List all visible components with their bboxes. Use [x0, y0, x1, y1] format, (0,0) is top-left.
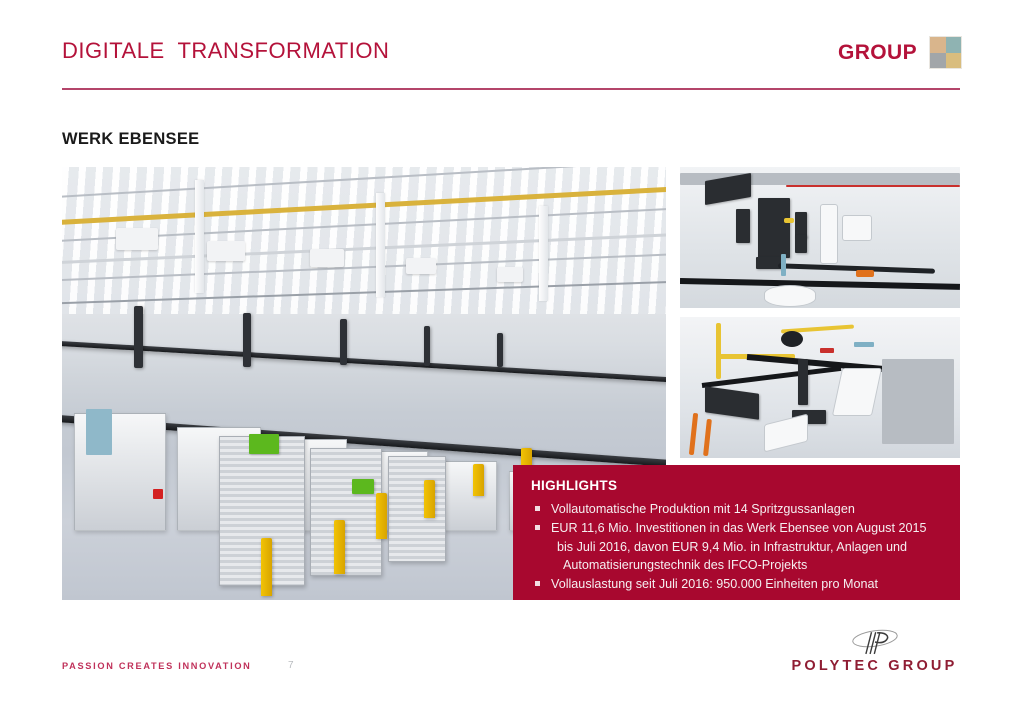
- logo-tile-bottom-left: [930, 53, 946, 69]
- teal-marker: [854, 342, 874, 347]
- slide: DIGITALE TRANSFORMATION GROUP WERK EBENS…: [0, 0, 1024, 709]
- logo-tile-bottom-right: [946, 53, 962, 69]
- robot-column: [798, 359, 808, 405]
- red-marker: [820, 348, 834, 353]
- machine-guard: [388, 456, 446, 562]
- blue-hose: [781, 254, 786, 276]
- orange-cable: [703, 418, 712, 455]
- red-indicator: [153, 489, 163, 499]
- highlight-text: Vollauslastung seit Juli 2016: 950.000 E…: [551, 577, 878, 591]
- safety-bollard: [334, 520, 345, 574]
- highlight-text: EUR 11,6 Mio. Investitionen in das Werk …: [551, 521, 926, 535]
- logo-tile-grid: [929, 36, 962, 69]
- footer-tagline: PASSION CREATES INNOVATION: [62, 661, 252, 671]
- robot-arm: [340, 319, 347, 365]
- highlight-item: Vollautomatische Produktion mit 14 Sprit…: [531, 500, 944, 519]
- green-control-box: [352, 479, 374, 494]
- side-panel: [882, 359, 955, 444]
- control-panel: [758, 198, 790, 258]
- bullet-square-icon: [535, 525, 540, 530]
- orange-marker: [856, 270, 874, 277]
- highlight-continuation: bis Juli 2016, davon EUR 9,4 Mio. in Inf…: [531, 538, 944, 557]
- robot-arm: [424, 326, 430, 366]
- section-title: WERK EBENSEE: [62, 130, 199, 149]
- highlights-heading: HIGHLIGHTS: [531, 478, 944, 493]
- group-logo-label: GROUP: [838, 41, 917, 65]
- orange-cable: [689, 413, 698, 456]
- safety-bollard: [424, 480, 435, 518]
- logo-tile-top-left: [930, 37, 946, 53]
- machine-guard: [310, 448, 382, 576]
- hall-column: [195, 180, 204, 293]
- gripper-plate: [705, 387, 759, 421]
- control-cabinet: [86, 409, 112, 455]
- control-panel: [736, 209, 750, 243]
- red-pipe: [786, 185, 960, 187]
- page-number: 7: [288, 660, 294, 671]
- ceiling-duct: [497, 267, 523, 282]
- highlight-item: Vollauslastung seit Juli 2016: 950.000 E…: [531, 575, 944, 594]
- green-control-box: [249, 434, 279, 454]
- safety-bollard: [376, 493, 387, 539]
- group-logo: GROUP: [838, 36, 962, 69]
- machine-body: [764, 285, 816, 307]
- robot-arm: [134, 306, 143, 368]
- highlight-continuation: Automatisierungstechnik des IFCO-Projekt…: [531, 556, 944, 575]
- robot-arm: [243, 313, 251, 367]
- hall-column: [376, 193, 385, 297]
- ceiling-duct: [116, 228, 158, 250]
- lower-rail: [680, 278, 960, 290]
- nozzle-assembly: [842, 215, 872, 241]
- machine-closeup-artwork: [680, 167, 960, 308]
- robot-arm: [497, 333, 503, 367]
- highlights-box: HIGHLIGHTS Vollautomatische Produktion m…: [513, 465, 960, 600]
- robot-closeup-photo: [680, 317, 960, 458]
- bullet-square-icon: [535, 581, 540, 586]
- highlights-list: Vollautomatische Produktion mit 14 Sprit…: [531, 500, 944, 594]
- robot-beam: [702, 366, 842, 388]
- machine-panel: [832, 368, 882, 416]
- safety-bollard: [473, 464, 484, 496]
- nozzle-assembly: [820, 204, 838, 264]
- cable-coil: [781, 331, 803, 347]
- machine-closeup-photo: [680, 167, 960, 308]
- safety-bollard: [261, 538, 272, 596]
- page-title: DIGITALE TRANSFORMATION: [62, 38, 389, 64]
- injection-machine: [443, 461, 497, 531]
- hall-column: [539, 206, 548, 301]
- robot-closeup-artwork: [680, 317, 960, 458]
- highlight-text: Vollautomatische Produktion mit 14 Sprit…: [551, 502, 855, 516]
- polytec-wordmark: POLYTEC GROUP: [787, 658, 962, 674]
- ceiling-duct: [406, 258, 436, 274]
- machine-panel: [764, 413, 808, 452]
- polytec-logo: POLYTEC GROUP: [787, 628, 962, 674]
- yellow-frame: [716, 323, 721, 379]
- logo-tile-top-right: [946, 37, 962, 53]
- header-divider: [62, 88, 960, 90]
- control-panel: [795, 235, 807, 253]
- ceiling-duct: [310, 249, 344, 267]
- bullet-square-icon: [535, 506, 540, 511]
- highlight-item: EUR 11,6 Mio. Investitionen in das Werk …: [531, 519, 944, 538]
- ceiling-duct: [207, 241, 245, 261]
- polytec-monogram-icon: [833, 628, 917, 656]
- yellow-marker: [784, 218, 794, 223]
